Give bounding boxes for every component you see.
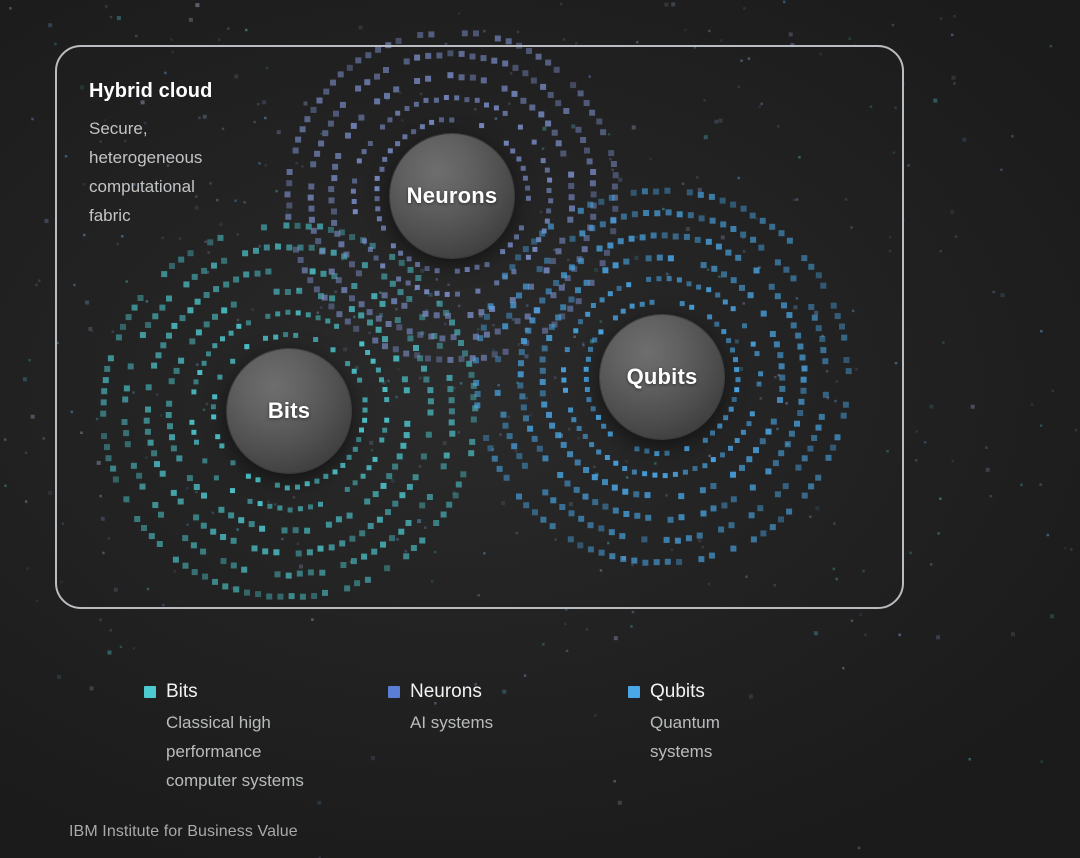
legend-head: Bits [144,680,388,704]
legend-head: Qubits [628,680,868,704]
legend-head: Neurons [388,680,628,704]
legend-item-bits[interactable]: BitsClassical high performance computer … [144,680,388,795]
legend-swatch-icon [388,686,400,698]
legend-title: Qubits [650,680,705,704]
node-label-qubits: Qubits [627,364,698,390]
page-title: Hybrid cloud [89,78,339,104]
legend-swatch-icon [628,686,640,698]
legend-item-neurons[interactable]: NeuronsAI systems [388,680,628,795]
node-label-bits: Bits [268,398,310,424]
panel-heading: Hybrid cloud Secure, heterogeneous compu… [89,78,339,230]
legend-description: Classical high performance computer syst… [166,708,388,795]
footer-credit: IBM Institute for Business Value [69,823,298,841]
legend-swatch-icon [144,686,156,698]
panel-subtitle: Secure, heterogeneous computational fabr… [89,114,339,230]
legend: BitsClassical high performance computer … [144,680,944,795]
node-sphere-qubits[interactable]: Qubits [600,315,724,439]
legend-title: Neurons [410,680,482,704]
legend-item-qubits[interactable]: QubitsQuantum systems [628,680,868,795]
legend-description: Quantum systems [650,708,868,766]
node-cluster-qubits[interactable]: Qubits [466,181,858,573]
legend-description: AI systems [410,708,628,737]
legend-title: Bits [166,680,198,704]
